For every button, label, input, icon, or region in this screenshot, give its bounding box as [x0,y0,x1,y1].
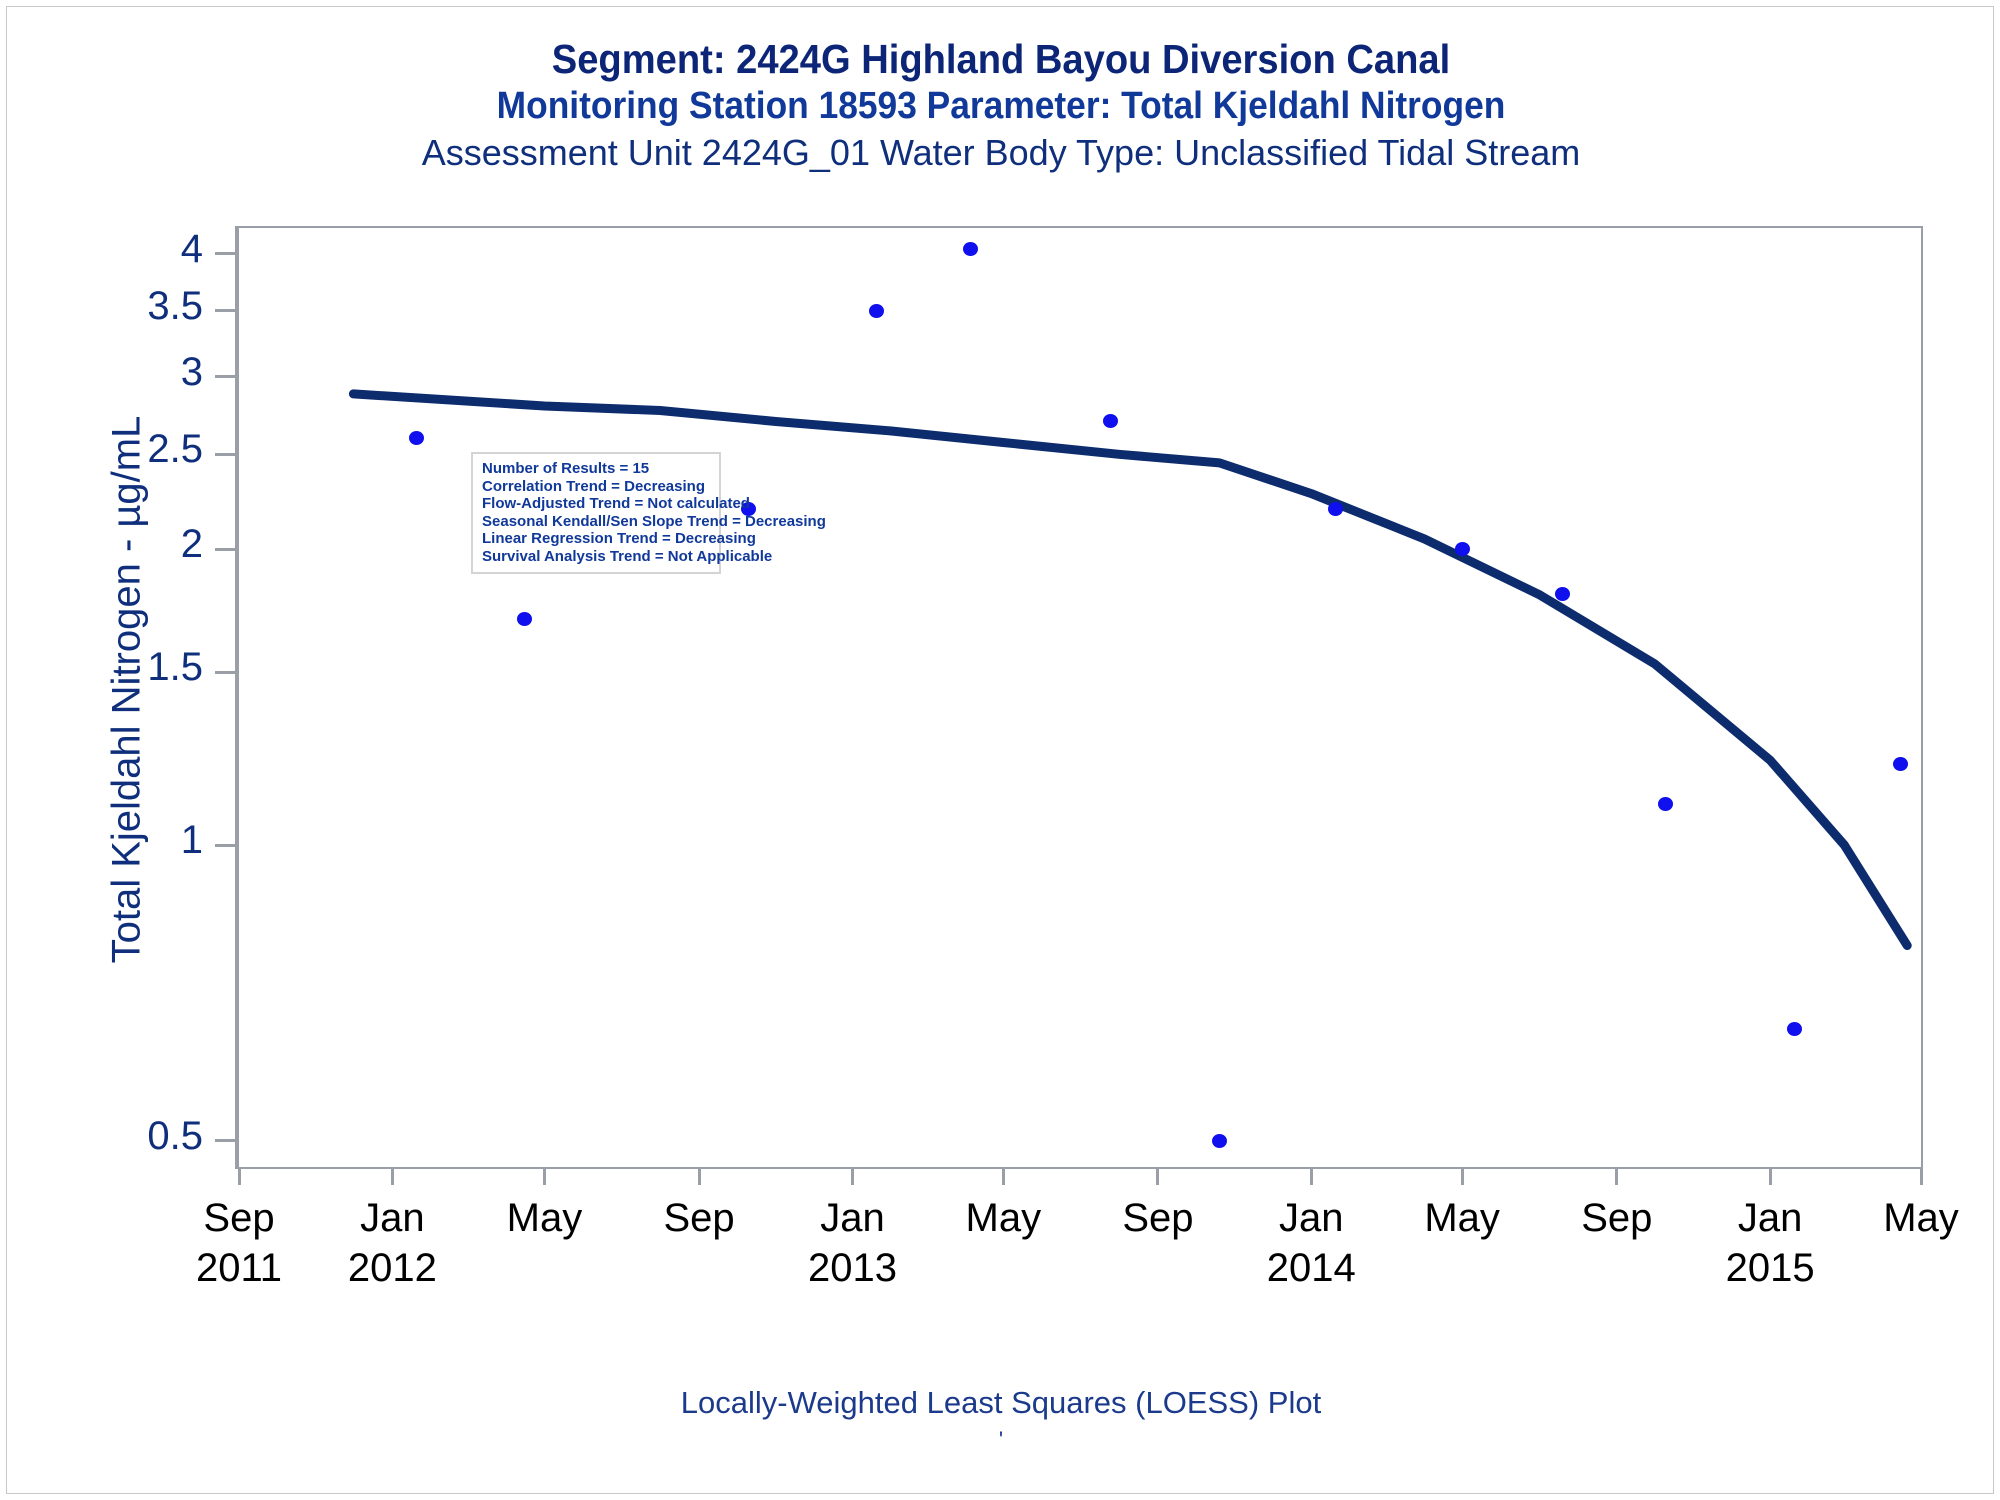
data-point [1328,502,1343,516]
y-tick-3.5 [215,309,237,312]
data-point [1893,757,1908,771]
data-point [1787,1022,1802,1036]
x-tick-label-month: Jan [1738,1196,1803,1240]
y-tick-2 [215,548,237,551]
annotation-line-0: Number of Results = 15 [482,460,711,478]
data-point [869,304,884,318]
x-tick-2013-01 [851,1169,854,1185]
chart-frame: Segment: 2424G Highland Bayou Diversion … [6,6,1994,1494]
y-tick-3 [215,375,237,378]
plot-inner [239,228,1921,1167]
chart-title-line2: Monitoring Station 18593 Parameter: Tota… [77,83,1926,129]
x-tick-label-month: Sep [664,1196,735,1240]
chart-title-line3: Assessment Unit 2424G_01 Water Body Type… [7,129,1995,177]
chart-footer-mark: ' [7,1427,1995,1453]
y-tick-1 [215,844,237,847]
chart-caption: Locally-Weighted Least Squares (LOESS) P… [7,1385,1995,1421]
trend-summary-box: Number of Results = 15 Correlation Trend… [471,452,721,574]
y-tick-4 [215,252,237,255]
x-tick-2012-01 [391,1169,394,1185]
chart-title-line1: Segment: 2424G Highland Bayou Diversion … [77,35,1926,83]
x-tick-label-month: Jan [1279,1196,1344,1240]
x-tick-2014-05 [1461,1169,1464,1185]
x-tick-2012-05 [543,1169,546,1185]
data-point [517,612,532,626]
y-tick-label: 1.5 [3,645,203,690]
x-tick-label: May [1811,1193,2000,1243]
x-tick-label-month: Sep [203,1196,274,1240]
x-tick-2014-09 [1615,1169,1618,1185]
x-tick-label-year: 2012 [282,1243,502,1293]
data-point [409,431,424,445]
x-tick-2012-09 [698,1169,701,1185]
y-tick-0.5 [215,1139,237,1142]
x-tick-2013-09 [1156,1169,1159,1185]
x-tick-label-year: 2014 [1201,1243,1421,1293]
loess-trend-line [239,228,1921,1167]
annotation-line-4: Linear Regression Trend = Decreasing [482,530,711,548]
x-tick-2015-01 [1769,1169,1772,1185]
y-tick-label: 2.5 [3,427,203,472]
x-tick-2015-05 [1920,1169,1923,1185]
x-tick-label-month: May [966,1196,1042,1240]
x-tick-label-month: Sep [1122,1196,1193,1240]
x-tick-label-year: 2015 [1660,1243,1880,1293]
y-tick-label: 3 [3,350,203,395]
x-tick-2013-05 [1002,1169,1005,1185]
annotation-line-2: Flow-Adjusted Trend = Not calculated [482,495,711,513]
y-tick-label: 3.5 [3,284,203,329]
y-tick-label: 0.5 [3,1114,203,1159]
data-point [1212,1134,1227,1148]
y-tick-label: 2 [3,522,203,567]
y-tick-label: 1 [3,818,203,863]
y-tick-label: 4 [3,227,203,272]
x-tick-label-month: May [1883,1196,1959,1240]
x-tick-2011-09 [238,1169,241,1185]
x-tick-label-month: May [1424,1196,1500,1240]
x-tick-label-month: Jan [360,1196,425,1240]
x-tick-label-month: Sep [1581,1196,1652,1240]
title-block: Segment: 2424G Highland Bayou Diversion … [7,35,1995,177]
x-tick-label-month: Jan [820,1196,885,1240]
annotation-line-3: Seasonal Kendall/Sen Slope Trend = Decre… [482,513,711,531]
x-tick-label-month: May [507,1196,583,1240]
data-point [963,242,978,256]
y-tick-2.5 [215,453,237,456]
annotation-line-1: Correlation Trend = Decreasing [482,478,711,496]
x-tick-label-year: 2013 [742,1243,962,1293]
x-tick-2014-01 [1310,1169,1313,1185]
annotation-line-5: Survival Analysis Trend = Not Applicable [482,548,711,566]
plot-area: Number of Results = 15 Correlation Trend… [237,226,1923,1169]
y-tick-1.5 [215,671,237,674]
